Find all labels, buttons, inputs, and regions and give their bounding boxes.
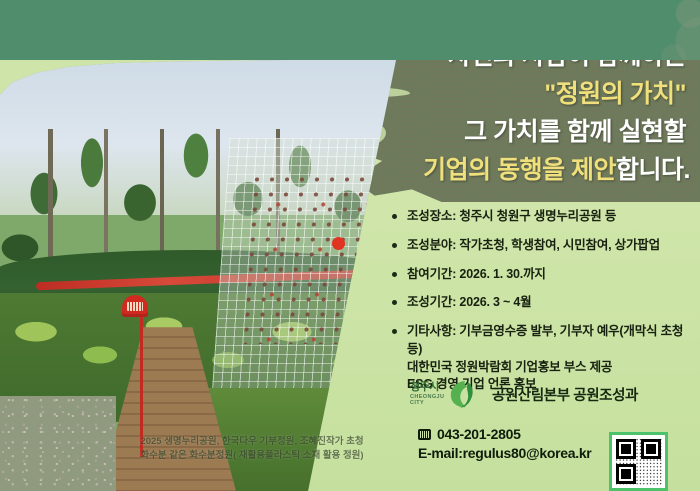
list-item-label: 참여기간: 2026. 1. 30.까지 <box>407 266 546 284</box>
qr-code-pattern <box>615 438 662 485</box>
bullet-icon <box>392 272 397 277</box>
department-name: 공원산림본부 공원조성과 <box>492 384 638 405</box>
cheongju-swirl-icon <box>448 379 474 409</box>
contact-block: 043-201-2805 E-mail:regulus80@korea.kr <box>418 425 591 463</box>
headline-line-4: 기업의 동행을 제안합니다. <box>423 158 690 183</box>
headline-line-4-emphasis: 기업의 동행을 제안 <box>423 156 616 184</box>
logo-english-name: CHEONGJU CITY <box>410 395 444 406</box>
photo-bottle-cap-grid <box>238 172 394 344</box>
headline-line-3: 그 가치를 함께 실현할 <box>464 120 686 145</box>
qr-finder-top-left <box>616 439 636 459</box>
logo-korean-name: 청주시 <box>410 382 444 393</box>
bullet-icon <box>392 214 397 219</box>
list-item: 참여기간: 2026. 1. 30.까지 <box>392 266 692 284</box>
bullet-icon <box>392 329 397 334</box>
qr-finder-top-right <box>641 439 661 459</box>
list-item: 조성장소: 청주시 청원구 생명누리공원 등 <box>392 208 692 226</box>
list-item-label: 조성분야: 작가초청, 학생참여, 시민참여, 상가팝업 <box>407 237 660 255</box>
list-item-label: 조성기간: 2026. 3 ~ 4월 <box>407 294 531 312</box>
footer: 청주시 CHEONGJU CITY 공원산림본부 공원조성과 043-201-2… <box>0 379 700 491</box>
headline-line-4-plain: 합니다. <box>616 156 690 184</box>
list-item-label-main: 기타사항: 기부금영수증 발부, 기부자 예우(개막식 초청 등) <box>407 324 683 356</box>
poster-root: 대한민국 정원박람회 2026 청주 가드닝페스티벌 자연과 사람이 함께하는 … <box>0 0 700 491</box>
list-item: 조성기간: 2026. 3 ~ 4월 <box>392 294 692 312</box>
cheongju-city-logo: 청주시 CHEONGJU CITY <box>410 379 474 409</box>
logo-english-line-2: CITY <box>410 401 444 407</box>
phone-line: 043-201-2805 <box>418 425 591 444</box>
email-line: E-mail:regulus80@korea.kr <box>418 444 591 463</box>
photo-red-accent-dot <box>332 237 345 250</box>
qr-finder-bottom-left <box>616 464 636 484</box>
logo-wordmark: 청주시 CHEONGJU CITY <box>410 382 444 406</box>
mailbox-icon <box>122 295 148 317</box>
list-item-label: 조성장소: 청주시 청원구 생명누리공원 등 <box>407 208 616 226</box>
headline-line-2: "정원의 가치" <box>544 82 686 107</box>
list-item-sub-line-1: 대한민국 정원박람회 기업홍보 부스 제공 <box>407 359 692 377</box>
telephone-icon <box>418 429 431 440</box>
email-address: E-mail:regulus80@korea.kr <box>418 444 591 463</box>
bullet-icon <box>392 243 397 248</box>
list-item: 조성분야: 작가초청, 학생참여, 시민참여, 상가팝업 <box>392 237 692 255</box>
phone-number: 043-201-2805 <box>437 425 521 444</box>
header-band-texture <box>580 0 700 60</box>
detail-list: 조성장소: 청주시 청원구 생명누리공원 등 조성분야: 작가초청, 학생참여,… <box>392 208 692 405</box>
bullet-icon <box>392 300 397 305</box>
qr-code[interactable] <box>609 432 668 491</box>
header-band <box>0 0 700 60</box>
